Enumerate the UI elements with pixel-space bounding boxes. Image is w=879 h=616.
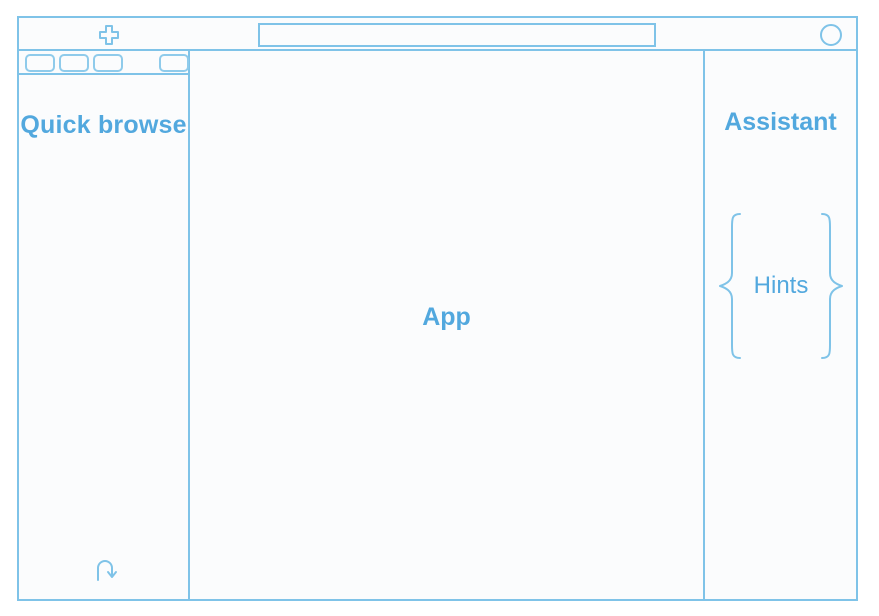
sidebar-tab-2[interactable] (59, 54, 89, 72)
sidebar-tab-3[interactable] (93, 54, 123, 72)
sidebar-tabstrip (19, 51, 188, 75)
hints-label: Hints (717, 211, 845, 361)
sidebar-tab-4[interactable] (159, 54, 189, 72)
top-bar (19, 18, 856, 51)
plus-icon[interactable] (97, 23, 121, 47)
sidebar-title: Quick browse (19, 108, 188, 142)
wireframe-canvas: Quick browse App Assistant (0, 0, 879, 616)
u-turn-arrow-icon[interactable] (91, 555, 121, 585)
main-app-panel: App (190, 51, 705, 599)
assistant-title: Assistant (705, 108, 856, 137)
sidebar-panel: Quick browse (19, 51, 190, 599)
body-area: Quick browse App Assistant (19, 51, 856, 599)
assistant-panel: Assistant Hints (705, 51, 856, 599)
sidebar-tab-1[interactable] (25, 54, 55, 72)
search-input[interactable] (258, 23, 656, 47)
main-app-title: App (190, 51, 703, 599)
hints-group: Hints (717, 211, 845, 361)
window-frame: Quick browse App Assistant (17, 16, 858, 601)
account-circle-icon[interactable] (819, 23, 843, 47)
